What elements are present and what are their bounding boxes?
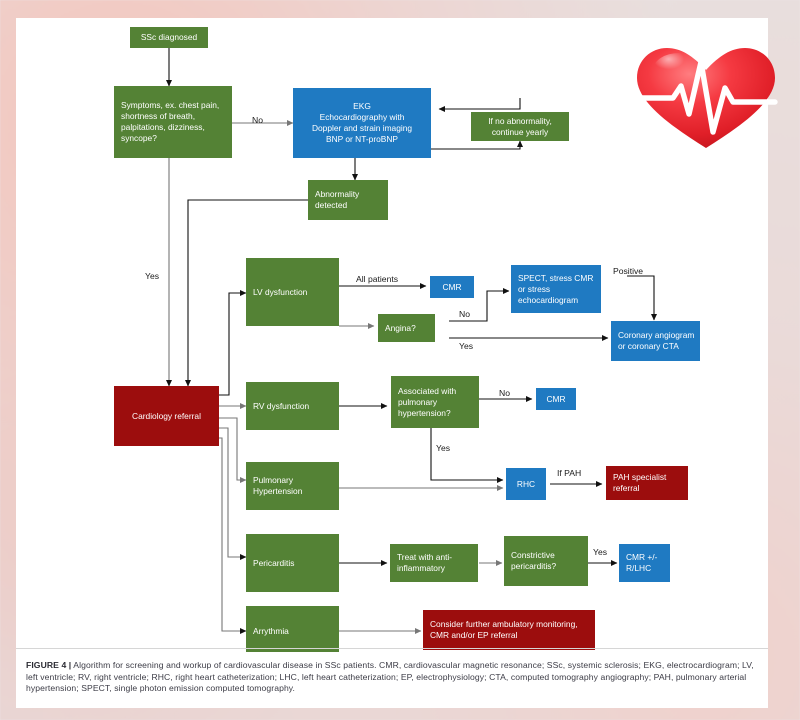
node-pah-specialist[interactable]: PAH specialist referral (606, 466, 688, 500)
node-cardiology-referral[interactable]: Cardiology referral (114, 386, 219, 446)
node-cmr-rlhc[interactable]: CMR +/- R/LHC (619, 544, 670, 582)
edge-label-positive: Positive (613, 266, 643, 276)
node-spect[interactable]: SPECT, stress CMR or stress echocardiogr… (511, 265, 601, 313)
caption-rule (16, 648, 768, 649)
node-ekg[interactable]: EKG Echocardiography with Doppler and st… (293, 88, 431, 158)
edge-label-if-pah: If PAH (557, 468, 581, 478)
node-angina[interactable]: Angina? (378, 314, 435, 342)
edge-label-angina-yes: Yes (459, 341, 473, 351)
figure-caption: FIGURE 4 | Algorithm for screening and w… (16, 652, 768, 708)
edge-label-angina-no: No (459, 309, 470, 319)
edge-label-all-patients: All patients (356, 274, 398, 284)
heart-with-ecg-icon (621, 36, 791, 151)
caption-text: Algorithm for screening and workup of ca… (26, 660, 754, 693)
node-treat-anti-inflammatory[interactable]: Treat with anti-inflammatory (390, 544, 478, 582)
edge-label-no-symptoms: No (252, 115, 263, 125)
node-rhc[interactable]: RHC (506, 468, 546, 500)
node-constrictive-pericarditis[interactable]: Constrictive pericarditis? (504, 536, 588, 586)
node-pericarditis[interactable]: Pericarditis (246, 534, 339, 592)
node-pulmonary-hypertension[interactable]: Pulmonary Hypertension (246, 462, 339, 510)
node-cmr-lv[interactable]: CMR (430, 276, 474, 298)
edge-label-ph-yes: Yes (436, 443, 450, 453)
edge-label-yes-cardiology: Yes (145, 271, 159, 281)
node-ambulatory-monitoring[interactable]: Consider further ambulatory monitoring, … (423, 610, 595, 650)
node-no-abnormality[interactable]: If no abnormality, continue yearly (471, 112, 569, 141)
flowchart-figure: SSc diagnosed Symptoms, ex. chest pain, … (16, 18, 768, 648)
node-coronary-angiogram[interactable]: Coronary angiogram or coronary CTA (611, 321, 700, 361)
node-symptoms[interactable]: Symptoms, ex. chest pain, shortness of b… (114, 86, 232, 158)
node-abnormality-detected[interactable]: Abnormality detected (308, 180, 388, 220)
node-ssc-diagnosed[interactable]: SSc diagnosed (130, 27, 208, 48)
caption-figure-label: FIGURE 4 | (26, 660, 71, 670)
node-associated-ph[interactable]: Associated with pulmonary hypertension? (391, 376, 479, 428)
node-lv-dysfunction[interactable]: LV dysfunction (246, 258, 339, 326)
edge-label-constrictive-yes: Yes (593, 547, 607, 557)
node-rv-dysfunction[interactable]: RV dysfunction (246, 382, 339, 430)
edge-label-ph-no: No (499, 388, 510, 398)
node-cmr-rv[interactable]: CMR (536, 388, 576, 410)
